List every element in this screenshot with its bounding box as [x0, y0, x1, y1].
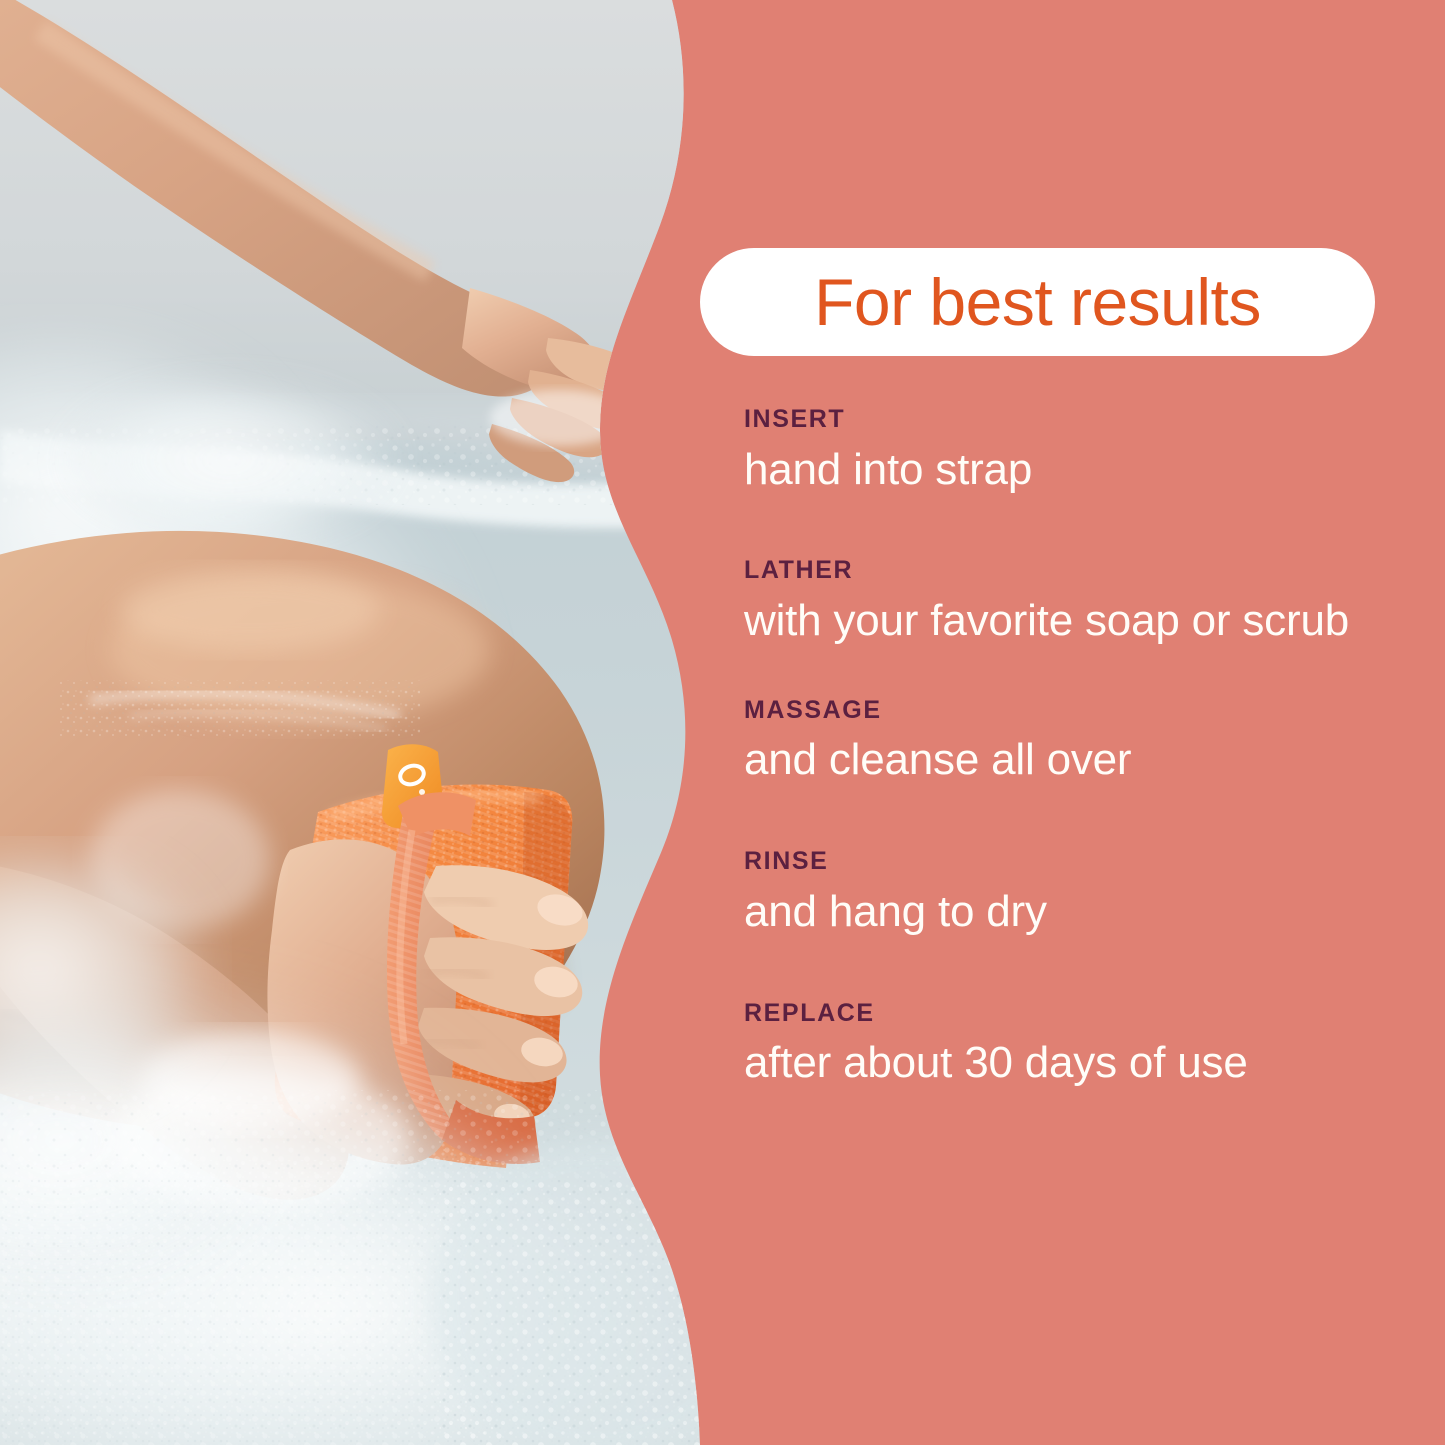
page-title: For best results [814, 269, 1261, 335]
title-pill: For best results [700, 248, 1375, 356]
instructions-content: For best results INSERT hand into strap … [700, 0, 1445, 1445]
step-text-massage: and cleanse all over [744, 734, 1424, 786]
bath-photo-illustration [0, 0, 760, 1445]
step-lather: LATHER with your favorite soap or scrub [744, 557, 1424, 646]
step-rinse: RINSE and hang to dry [744, 848, 1424, 937]
step-text-insert: hand into strap [744, 444, 1424, 496]
step-label-replace: REPLACE [744, 1000, 1424, 1028]
step-text-lather: with your favorite soap or scrub [744, 595, 1424, 647]
step-text-rinse: and hang to dry [744, 886, 1424, 938]
step-text-replace: after about 30 days of use [744, 1037, 1424, 1089]
step-label-insert: INSERT [744, 406, 1424, 434]
step-insert: INSERT hand into strap [744, 406, 1424, 495]
product-instructions-graphic: For best results INSERT hand into strap … [0, 0, 1445, 1445]
step-massage: MASSAGE and cleanse all over [744, 697, 1424, 786]
bath-photo [0, 0, 760, 1445]
step-label-lather: LATHER [744, 557, 1424, 585]
step-label-rinse: RINSE [744, 848, 1424, 876]
step-replace: REPLACE after about 30 days of use [744, 1000, 1424, 1089]
steps-list: INSERT hand into strap LATHER with your … [744, 406, 1424, 1089]
step-label-massage: MASSAGE [744, 697, 1424, 725]
